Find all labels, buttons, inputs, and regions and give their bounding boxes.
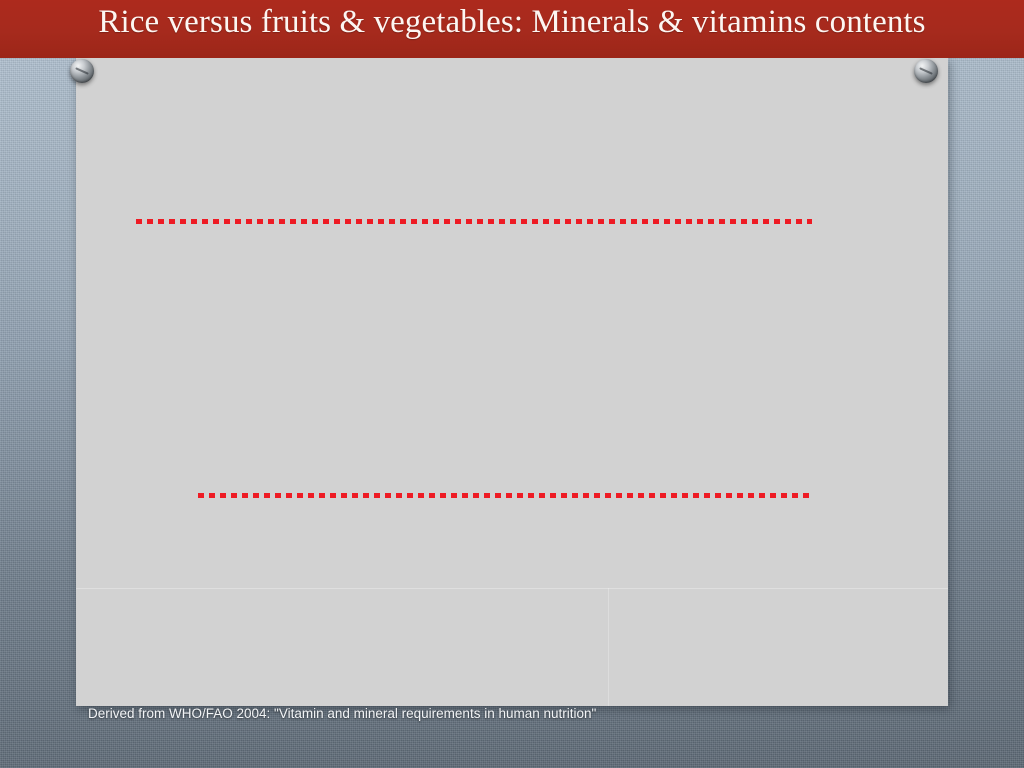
title-banner: Rice versus fruits & vegetables: Mineral… [0,0,1024,58]
screw-icon [70,59,94,83]
source-credit: Derived from WHO/FAO 2004: "Vitamin and … [88,706,596,721]
screw-icon [914,59,938,83]
content-panel [76,58,948,706]
slide-canvas: Rice versus fruits & vegetables: Mineral… [0,0,1024,768]
page-title: Rice versus fruits & vegetables: Mineral… [0,4,1024,41]
reference-line-100-top [136,219,812,224]
panel-seam-vertical [608,588,609,706]
panel-seam-horizontal [76,588,948,589]
reference-line-100-bottom [198,493,812,498]
